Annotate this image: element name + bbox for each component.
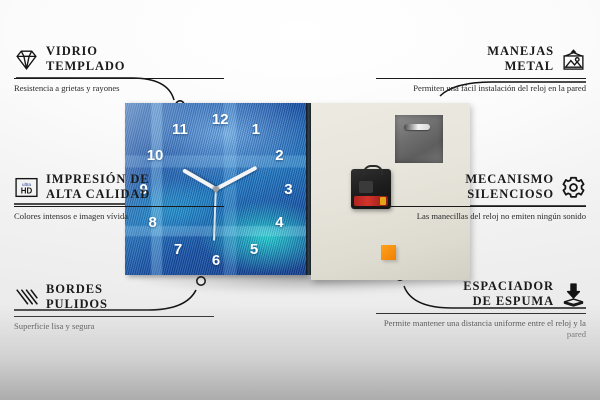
callout-title-manejas: MANEJAS METAL bbox=[487, 44, 554, 75]
clock-numeral-12: 12 bbox=[212, 112, 229, 127]
callout-rule bbox=[376, 78, 586, 79]
callout-espaciador-espuma: ESPACIADOR DE ESPUMA Permite mantener un… bbox=[376, 279, 586, 341]
ultra-hd-icon: ultra HD bbox=[14, 175, 39, 200]
callout-vidrio-templado: VIDRIO TEMPLADO Resistencia a grietas y … bbox=[14, 44, 224, 94]
callout-manejas-metal: MANEJAS METAL Permiten una fácil instala… bbox=[376, 44, 586, 94]
infographic-canvas: 12 1 2 3 4 5 6 7 8 9 10 11 bbox=[0, 0, 600, 400]
callout-title-mecanismo: MECANISMO SILENCIOSO bbox=[465, 172, 554, 203]
clock-numeral-1: 1 bbox=[252, 122, 260, 137]
callout-desc-espaciador: Permite mantener una distancia uniforme … bbox=[376, 318, 586, 341]
callout-rule bbox=[14, 78, 224, 79]
clock-numeral-11: 11 bbox=[172, 122, 188, 137]
callout-title-bordes: BORDES PULIDOS bbox=[46, 282, 108, 313]
hanger-slot bbox=[404, 124, 430, 130]
callout-desc-mecanismo: Las manecillas del reloj no emiten ningú… bbox=[376, 211, 586, 223]
callout-rule bbox=[14, 316, 214, 317]
gear-icon bbox=[561, 175, 586, 200]
foam-spacer-arrow-icon bbox=[561, 282, 586, 307]
callout-bordes-pulidos: BORDES PULIDOS Superficie lisa y segura bbox=[14, 282, 214, 332]
foam-spacer bbox=[381, 245, 396, 260]
clock-numeral-4: 4 bbox=[275, 215, 283, 230]
clock-numeral-5: 5 bbox=[250, 242, 258, 257]
callout-title-vidrio: VIDRIO TEMPLADO bbox=[46, 44, 125, 75]
callout-mecanismo-silencioso: MECANISMO SILENCIOSO Las manecillas del … bbox=[376, 172, 586, 222]
callout-title-espaciador: ESPACIADOR DE ESPUMA bbox=[463, 279, 554, 310]
clock-numeral-3: 3 bbox=[284, 182, 292, 197]
clock-numeral-2: 2 bbox=[275, 148, 283, 163]
callout-desc-vidrio: Resistencia a grietas y rayones bbox=[14, 83, 224, 95]
metal-hanger-icon bbox=[395, 115, 443, 163]
clock-numeral-7: 7 bbox=[174, 242, 182, 257]
callout-rule bbox=[376, 206, 586, 207]
mechanism-dial bbox=[359, 181, 373, 193]
callout-rule bbox=[14, 206, 224, 207]
picture-hanger-icon bbox=[561, 47, 586, 72]
clock-numeral-6: 6 bbox=[212, 253, 220, 268]
callout-title-impresion: IMPRESIÓN DE ALTA CALIDAD bbox=[46, 172, 150, 203]
polished-edges-icon bbox=[14, 285, 39, 310]
diamond-icon bbox=[14, 47, 39, 72]
callout-desc-manejas: Permiten una fácil instalación del reloj… bbox=[376, 83, 586, 95]
svg-text:HD: HD bbox=[21, 186, 33, 195]
clock-numeral-10: 10 bbox=[147, 148, 164, 163]
callout-desc-bordes: Superficie lisa y segura bbox=[14, 321, 214, 333]
callout-desc-impresion: Colores intensos e imagen vívida bbox=[14, 211, 224, 223]
callout-rule bbox=[376, 313, 586, 314]
callout-impresion-alta-calidad: ultra HD IMPRESIÓN DE ALTA CALIDAD Color… bbox=[14, 172, 224, 222]
